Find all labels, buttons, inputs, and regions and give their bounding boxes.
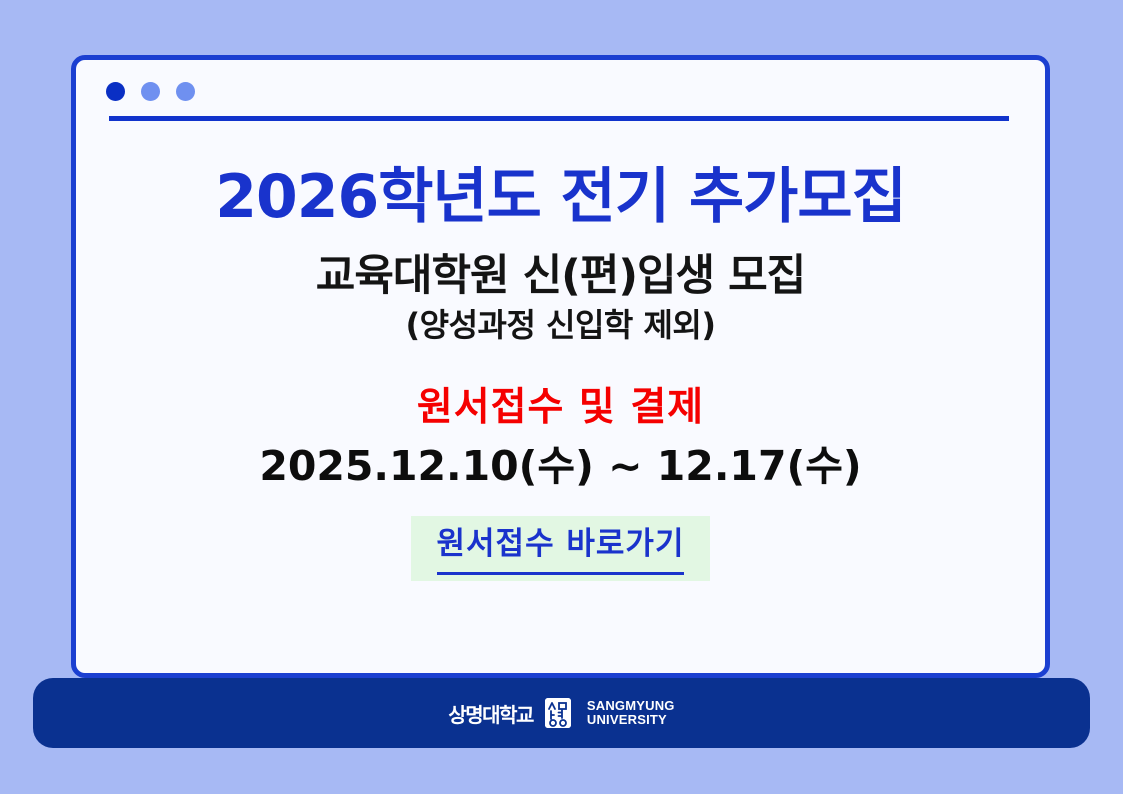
window-dot-1-icon[interactable] [106,82,125,101]
subtitle-secondary: (양성과정 신입학 제외) [76,307,1045,344]
application-link-underline [437,572,685,575]
window-dot-2-icon[interactable] [141,82,160,101]
titlebar-divider [109,116,1009,121]
university-name-english-line1: SANGMYUNG [587,699,675,713]
application-notice-label: 원서접수 및 결제 [76,386,1045,431]
application-period-date: 2025.12.10(수) ~ 12.17(수) [76,443,1045,490]
university-name-english: SANGMYUNG UNIVERSITY [587,699,675,727]
announcement-content: 2026학년도 전기 추가모집 교육대학원 신(편)입생 모집 (양성과정 신입… [76,144,1045,581]
subtitle-primary: 교육대학원 신(편)입생 모집 [76,252,1045,301]
application-link-wrapper: 원서접수 바로가기 [76,516,1045,581]
application-link-button[interactable]: 원서접수 바로가기 [411,516,711,581]
application-link-label: 원서접수 바로가기 [437,526,685,563]
announcement-card: 2026학년도 전기 추가모집 교육대학원 신(편)입생 모집 (양성과정 신입… [71,55,1050,678]
window-titlebar [106,82,195,101]
window-dot-3-icon[interactable] [176,82,195,101]
page-title: 2026학년도 전기 추가모집 [76,164,1045,230]
university-footer-bar: 상명대학교 SANGMYUNG UNIVERSITY [33,678,1090,748]
sangmyung-emblem-icon [545,698,571,728]
university-name-english-line2: UNIVERSITY [587,713,675,727]
university-name-korean: 상명대학교 [448,699,533,728]
